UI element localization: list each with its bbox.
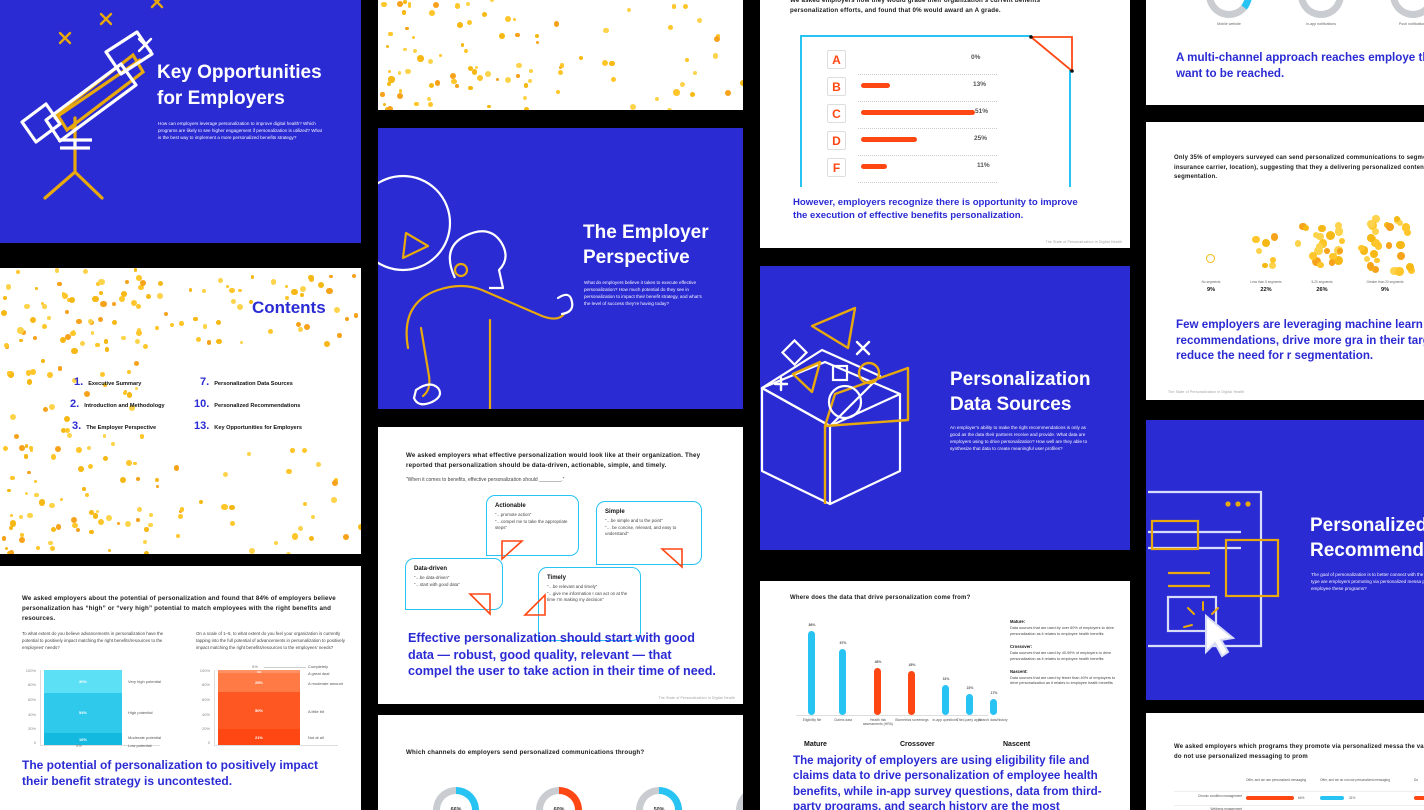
slide-employer-perspective-cover[interactable]: The Employer Perspective What do employe… (378, 128, 743, 409)
donut-value: 60% (543, 794, 575, 810)
grade-value-c: 51% (975, 108, 988, 115)
column-header-2: Offer, and we do not use personalized me… (1320, 778, 1392, 782)
slide-channels[interactable]: Which channels do employers send persona… (378, 715, 743, 810)
donut-label-push-notifications: Push notifications (1383, 22, 1424, 26)
decorative-dot (714, 36, 720, 42)
toc-item-2[interactable]: 2. Introduction and Methodology (70, 398, 165, 410)
decorative-dot (64, 416, 70, 422)
decorative-dot (413, 49, 417, 53)
donut-channel-2: 60% (536, 787, 582, 810)
decorative-dot (83, 269, 88, 274)
toc-number: 1. (74, 376, 83, 388)
decorative-dot (697, 18, 702, 23)
slide-title-line2: Recommenda (1310, 540, 1424, 561)
decorative-dot (136, 518, 140, 522)
decorative-dot (285, 285, 288, 288)
decorative-dot (105, 347, 110, 352)
slide-headline: We asked employers which programs they p… (1174, 743, 1424, 762)
donut-in-app-notifications: 28% (1298, 0, 1344, 18)
grade-value-f: 11% (977, 162, 990, 169)
decorative-dot (144, 551, 149, 554)
slide-kicker: However, employers recognize there is op… (793, 196, 1093, 222)
legend-title: Mature: (1010, 619, 1120, 624)
decorative-dot (136, 304, 141, 309)
decorative-dot (251, 275, 254, 278)
decorative-dot (178, 514, 183, 519)
bar-value: 22% (958, 686, 982, 690)
decorative-dot (343, 534, 349, 540)
decorative-dot (229, 288, 235, 294)
decorative-dot (602, 60, 609, 67)
decorative-dot (155, 478, 159, 482)
row-label-chronic: Chronic condition management (1186, 794, 1242, 798)
decorative-dot (119, 296, 125, 302)
decorative-dot (10, 414, 16, 420)
decorative-dot (158, 281, 163, 286)
slide-title-line1: Key Opportunities (157, 62, 322, 83)
decorative-dot (51, 454, 57, 460)
toc-item-1[interactable]: 1. Executive Summary (74, 376, 141, 388)
slide-segmentation[interactable]: Only 35% of employers surveyed can send … (1146, 122, 1424, 400)
decorative-dot (298, 327, 303, 332)
legend-title: Crossover: (1010, 644, 1120, 649)
decorative-dot (655, 97, 659, 101)
decorative-dot (43, 407, 48, 412)
toc-item-5[interactable]: 10. Personalized Recommendations (194, 398, 300, 410)
bubble-quotes: “…be simple and to the point” “… be conc… (605, 518, 693, 538)
grade-bar-b (861, 83, 890, 88)
y-tick: 80% (20, 682, 36, 687)
toc-number: 3. (72, 420, 81, 432)
decorative-dot (47, 316, 51, 320)
cluster-value: 26% (1290, 287, 1354, 293)
decorative-dot (108, 549, 111, 552)
decorative-dot (39, 499, 46, 506)
decorative-dot (57, 282, 62, 287)
decorative-dot (2, 536, 6, 540)
decorative-dot (10, 520, 16, 526)
decorative-dot (402, 10, 407, 15)
decorative-dot (485, 71, 491, 77)
decorative-dot (627, 8, 631, 12)
decorative-dot (337, 333, 342, 338)
slide-title-line2: for Employers (157, 88, 285, 109)
decorative-dot (112, 320, 117, 325)
decorative-dot (25, 444, 29, 448)
cluster-dot (1324, 248, 1330, 254)
decorative-dot (69, 297, 75, 303)
decorative-dot (240, 341, 243, 344)
decorative-dot (499, 33, 505, 39)
segment-label-low: Low potential (128, 743, 152, 748)
bar-value: 48% (866, 660, 890, 664)
decorative-dot (249, 548, 255, 554)
cluster-dot (1313, 232, 1319, 238)
decorative-dot (41, 359, 45, 363)
decorative-dot (523, 96, 527, 100)
decorative-dot (1, 310, 7, 316)
decorative-dot (143, 540, 147, 544)
grade-bar-f (861, 164, 887, 169)
decorative-dot (149, 513, 153, 517)
cluster-dot (1396, 241, 1405, 250)
slide-effective-personalization[interactable]: We asked employers what effective person… (378, 427, 743, 704)
decorative-dot (58, 366, 62, 370)
decorative-dot (106, 515, 112, 521)
decorative-dot (88, 464, 94, 470)
segment-very-high: 30% (44, 670, 122, 693)
slide-recommendations-cover[interactable]: Personalized Recommenda The goal of pers… (1146, 420, 1424, 700)
donut-value: 66% (440, 794, 472, 810)
right-chart-question: On a scale of 1–5, to what extent do you… (196, 631, 348, 651)
decorative-dot (381, 2, 387, 8)
legend-text: Data sources that are used by fewer than… (1010, 676, 1120, 688)
slide-data-origin[interactable]: Where does the data that drive personali… (760, 581, 1130, 810)
cluster-dot (1269, 262, 1277, 270)
bubble-tail-data-driven (468, 592, 494, 616)
decorative-dot (92, 296, 99, 303)
bar-value: 67% (831, 641, 855, 645)
segment-label-great-deal: A great deal (308, 671, 329, 676)
decorative-dot (505, 77, 511, 83)
bar-hra (874, 668, 881, 715)
decorative-dot (218, 278, 223, 283)
bar-value: 86% (800, 623, 824, 627)
cluster-greater-than-20 (1354, 214, 1416, 276)
decorative-dot (24, 304, 29, 309)
decorative-dot (672, 4, 676, 8)
decorative-dot (3, 446, 9, 452)
decorative-dot (229, 505, 235, 511)
decorative-dot (193, 317, 197, 321)
decorative-dot (461, 43, 465, 47)
decorative-dot (196, 337, 201, 342)
row-bar-offer-not-personalized (1320, 796, 1344, 800)
decorative-dot (515, 33, 519, 37)
slide-grid-canvas: Key Opportunities for Employers How can … (0, 0, 1424, 810)
grade-value-a: 0% (971, 54, 980, 61)
decorative-dot (286, 469, 291, 474)
decorative-dot (354, 313, 358, 317)
cluster-dot (1339, 238, 1345, 244)
decorative-dot (42, 304, 47, 309)
decorative-dot (274, 541, 278, 545)
bubble-title: Simple (605, 509, 693, 515)
decorative-dot (467, 20, 473, 26)
grade-dotted-rule (858, 100, 997, 102)
segment-label-moderate: Moderate potential (128, 735, 161, 740)
decorative-dot (223, 472, 228, 477)
decorative-dot (189, 288, 193, 292)
decorative-dot (9, 550, 15, 554)
slide-body-text: How can employers leverage personalizati… (158, 121, 325, 142)
slide-programs-table[interactable]: We asked employers which programs they p… (1146, 713, 1424, 810)
decorative-dot (89, 530, 94, 535)
decorative-dot (405, 27, 409, 31)
bar-label: Health risk assessments (HRA) (860, 718, 896, 726)
decorative-dot (414, 102, 418, 106)
decorative-dot (120, 477, 126, 483)
decorative-dot (516, 74, 520, 78)
bar-value: 45% (900, 663, 924, 667)
decorative-dot (19, 339, 22, 342)
decorative-dot (439, 54, 442, 57)
toc-number: 2. (70, 398, 79, 410)
segment-little-bit: 50% (218, 692, 300, 730)
decorative-dot (417, 55, 424, 62)
decorative-dot (121, 336, 126, 341)
segment-label-little-bit: A little bit (308, 709, 324, 714)
grade-bar-c (861, 110, 975, 115)
slide-title-line1: Personalization (950, 369, 1090, 390)
decorative-dot (112, 302, 116, 306)
decorative-dot (427, 97, 431, 101)
slide-title-line2: Data Sources (950, 394, 1071, 415)
decorative-dot (352, 274, 356, 278)
donut-value: 36% (1213, 0, 1245, 11)
grade-value-d: 25% (974, 135, 987, 142)
decorative-dot (95, 343, 100, 348)
decorative-dot (429, 10, 435, 16)
decorative-dot (466, 2, 470, 6)
decorative-dot (331, 497, 337, 503)
decorative-dot (27, 379, 33, 385)
slide-question: Which channels do employers send persona… (406, 749, 736, 756)
cluster-dot (1303, 225, 1309, 231)
decorative-dot (5, 547, 8, 550)
decorative-dot (433, 2, 439, 8)
decorative-dot (127, 392, 132, 397)
donut-channel-4: 43% (736, 787, 743, 810)
decorative-dot (199, 500, 203, 504)
decorative-dot (713, 53, 719, 59)
decorative-dot (33, 336, 37, 340)
cluster-dot (1262, 239, 1270, 247)
decorative-dot (180, 507, 185, 512)
chart-data-sources: 86% Eligibility file 67% Claims data 48%… (796, 619, 996, 721)
toc-item-4[interactable]: 7. Personalization Data Sources (200, 376, 293, 388)
decorative-dot (85, 493, 90, 498)
decorative-dot (82, 487, 86, 491)
slide-contents[interactable]: Contents 1. Executive Summary 2. Introdu… (0, 268, 361, 554)
decorative-dot (76, 319, 81, 324)
decorative-dot (429, 83, 434, 88)
row-bar-offer-personalized (1246, 796, 1294, 800)
orange-triangle-decoration (1028, 35, 1076, 75)
decorative-dot (30, 449, 33, 452)
decorative-dot (231, 299, 236, 304)
decorative-dot (386, 45, 390, 49)
slide-key-opportunities-cover[interactable]: Key Opportunities for Employers How can … (0, 0, 361, 243)
decorative-dot (387, 106, 393, 110)
decorative-dot (27, 513, 33, 519)
slide-title-line1: The Employer (583, 222, 709, 243)
decorative-dot (303, 502, 307, 506)
decorative-dot (202, 289, 206, 293)
decorative-dot (6, 284, 11, 289)
legend-text: Data sources that are used by 40-59% of … (1010, 651, 1120, 663)
segment-value-completely: 0% (252, 664, 258, 669)
bubble-tail-timely (523, 593, 549, 618)
bubble-tail-simple (660, 547, 686, 569)
decorative-dot (383, 103, 386, 106)
cluster-dot (1374, 258, 1380, 264)
decorative-dot (103, 456, 108, 461)
decorative-dot (685, 58, 689, 62)
decorative-dot (490, 0, 494, 2)
segment-high: 54% (44, 693, 122, 734)
decorative-dot (558, 70, 563, 75)
decorative-dot (560, 63, 565, 68)
cluster-dot (1370, 250, 1378, 258)
slide-title-line2: Perspective (583, 247, 690, 268)
bar-biometrics (908, 671, 915, 715)
grade-label-a: A (827, 50, 846, 69)
decorative-dot (291, 289, 297, 295)
toc-item-6[interactable]: 13. Key Opportunities for Employers (194, 420, 302, 432)
decorative-dot (468, 86, 473, 91)
decorative-dot (26, 370, 32, 376)
decorative-dot (10, 476, 15, 481)
decorative-dot (50, 546, 55, 551)
decorative-dot (292, 533, 299, 540)
decorative-dot (30, 317, 36, 323)
grade-bar-d (861, 137, 917, 142)
slide-kicker: The majority of employers are using elig… (793, 753, 1113, 810)
decorative-dot (300, 286, 306, 292)
decorative-dot (673, 89, 680, 96)
decorative-dot (238, 289, 242, 293)
decorative-dot (133, 462, 136, 465)
cluster-dot (1395, 267, 1404, 276)
slide-grades[interactable]: We asked employers how they would grade … (760, 0, 1130, 248)
toc-number: 7. (200, 376, 209, 388)
decorative-dot (19, 445, 25, 451)
column-header-1: Offer, and we use personalized messaging (1246, 778, 1316, 782)
decorative-dot (221, 504, 228, 511)
decorative-dot (455, 84, 459, 88)
decorative-dot (358, 524, 361, 530)
decorative-dot (91, 331, 95, 335)
decorative-dot (98, 317, 104, 323)
bar-eligibility-file (808, 631, 815, 715)
cluster-5-to-20 (1294, 220, 1349, 275)
toc-label: The Employer Perspective (86, 425, 156, 431)
cluster-less-than-5 (1244, 232, 1286, 274)
segment-value-low: 0% (76, 743, 82, 748)
decorative-dot (230, 521, 235, 526)
decorative-dot (428, 102, 433, 107)
slide-footer: The State of Personalization in Digital … (1168, 390, 1245, 394)
decorative-dot (3, 296, 7, 300)
decorative-dot (140, 434, 145, 439)
cluster-dot (1402, 223, 1410, 231)
decorative-dot (529, 69, 533, 73)
slide-kicker: Effective personalization should start w… (408, 630, 718, 680)
decorative-dot (247, 452, 251, 456)
decorative-dot (435, 80, 441, 86)
decorative-dot (98, 519, 104, 525)
decorative-dot (380, 92, 384, 96)
decorative-dot (668, 25, 673, 30)
decorative-dot (127, 370, 132, 375)
decorative-dot (67, 433, 72, 438)
decorative-dot (125, 521, 131, 527)
donut-value: 50% (643, 794, 675, 810)
decorative-dot (332, 480, 338, 486)
decorative-dot (329, 275, 333, 279)
decorative-dot (98, 279, 105, 286)
row-value-a: 64% (1298, 796, 1304, 800)
bar-label: Eligibility file (796, 718, 828, 722)
decorative-dot (34, 493, 38, 497)
toc-label: Introduction and Methodology (84, 403, 164, 409)
decorative-dot (271, 279, 277, 285)
y-tick: 40% (194, 712, 210, 717)
decorative-dot (457, 22, 463, 28)
decorative-dot (536, 41, 540, 45)
decorative-dot (47, 372, 53, 378)
decorative-dot (611, 77, 616, 82)
donut-value: 28% (1305, 0, 1337, 11)
y-tick: 60% (20, 697, 36, 702)
decorative-dot (137, 507, 142, 512)
slide-data-sources-cover[interactable]: Personalization Data Sources An employer… (760, 266, 1130, 550)
chart-potential-right: 100% 80% 60% 40% 20% 0 0% Completely 4% … (196, 670, 358, 748)
donut-label-mobile-website: Mobile website (1199, 22, 1259, 26)
donut-mobile-website: 36% (1206, 0, 1252, 18)
legend-maturity: Mature: Data sources that are used by ov… (1010, 619, 1120, 693)
decorative-dot (556, 90, 560, 94)
bar-claims-data (839, 649, 846, 715)
decorative-dot (126, 460, 132, 466)
decorative-dot (428, 59, 434, 65)
cluster-label: No segments (1184, 280, 1238, 284)
cluster-dot (1406, 263, 1414, 271)
bubble-title: Timely (547, 575, 632, 581)
decorative-dot (334, 307, 340, 313)
donut-channel-1: 66% (433, 787, 479, 810)
grade-dotted-rule (858, 73, 997, 75)
donut-push-notifications: 26% (1390, 0, 1424, 18)
decorative-dot (134, 268, 138, 272)
slide-body-text: The goal of personalization is to better… (1311, 572, 1424, 593)
slide-body-text: What do employers believe it takes to ex… (584, 280, 704, 308)
decorative-dot (80, 341, 85, 346)
decorative-dot (76, 528, 80, 532)
y-tick: 20% (194, 726, 210, 731)
bubble-quotes: “…be data-driven” “…start with good data… (414, 575, 494, 588)
slide-kicker: A multi-channel approach reaches employe… (1176, 50, 1424, 81)
cluster-no-segments (1194, 240, 1228, 274)
y-tick: 40% (20, 712, 36, 717)
bubble-title: Data-driven (414, 566, 494, 572)
toc-item-3[interactable]: 3. The Employer Perspective (72, 420, 156, 432)
decorative-dot (99, 291, 103, 295)
decorative-dot (683, 4, 689, 10)
slide-potential-of-personalization[interactable]: We asked employers about the potential o… (0, 566, 361, 810)
cluster-dot (1386, 223, 1394, 231)
grade-label-d: D (827, 131, 846, 150)
toc-number: 10. (194, 398, 209, 410)
y-tick: 0 (194, 740, 210, 745)
slide-multichannel[interactable]: 36% Mobile website 28% In-app notificati… (1146, 0, 1424, 105)
toc-label: Personalization Data Sources (214, 381, 293, 387)
decorative-dot (56, 524, 62, 530)
slide-contents-cropped[interactable]: 3. The Employer Perspective 13. Key Oppo… (378, 0, 743, 110)
decorative-dot (136, 330, 142, 336)
decorative-dot (468, 66, 473, 71)
